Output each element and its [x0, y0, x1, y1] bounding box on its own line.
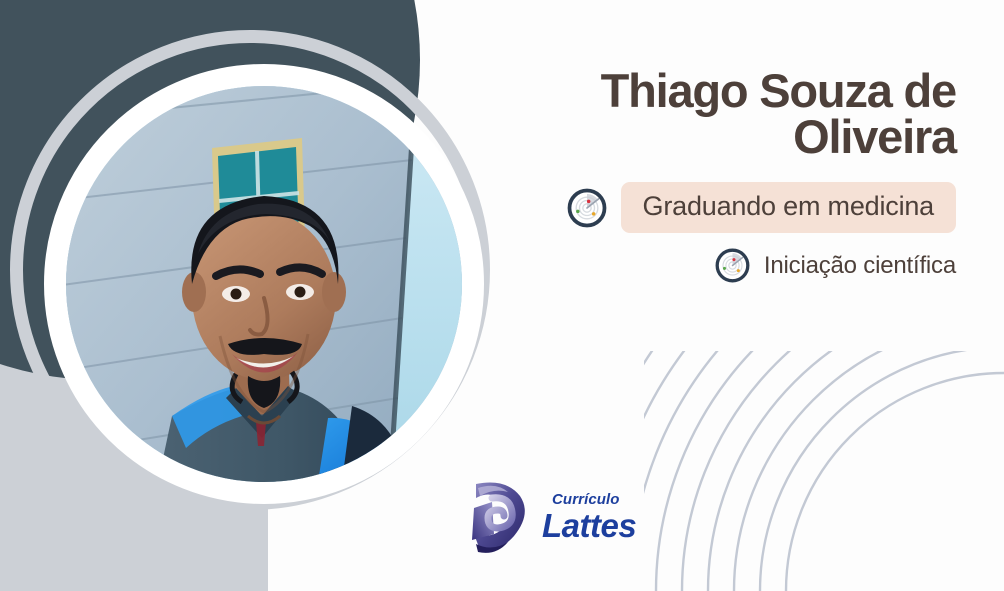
radar-icon: [715, 248, 750, 283]
tag-label-iniciacao: Iniciação científica: [764, 252, 956, 280]
lattes-top-word: Currículo: [552, 492, 620, 507]
page-title: Thiago Souza de Oliveira: [516, 68, 956, 160]
tag-row-iniciacao[interactable]: Iniciação científica: [715, 248, 956, 283]
lattes-logo[interactable]: Currículo Lattes: [462, 478, 636, 556]
profile-card: Thiago Souza de Oliveira Graduando em me…: [0, 0, 1004, 591]
lattes-main-word: Lattes: [542, 509, 636, 542]
lattes-mark-icon: [462, 478, 534, 556]
radar-icon: [567, 188, 607, 228]
tag-row-graduando[interactable]: Graduando em medicina: [567, 182, 956, 233]
tag-label-graduando: Graduando em medicina: [621, 182, 956, 233]
avatar: [66, 86, 462, 482]
